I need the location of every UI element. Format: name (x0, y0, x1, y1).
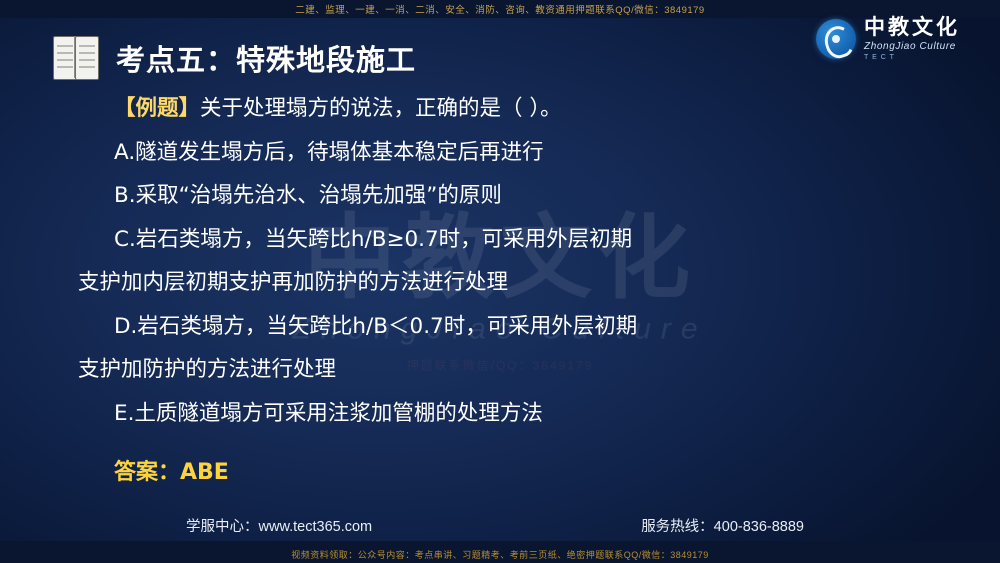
answer-row: 答案：ABE (78, 454, 940, 486)
answer-label: 答案： (114, 460, 180, 485)
option-c-cont: 支护加内层初期支护再加防护的方法进行处理 (78, 272, 940, 294)
slide-footer: 学服中心：www.tect365.com 服务热线：400-836-8889 (0, 515, 1000, 537)
option-b: B.采取“治塌先治水、治塌先加强”的原则 (78, 185, 940, 207)
option-d-cont: 支护加防护的方法进行处理 (78, 359, 940, 381)
footer-hotline: 服务热线：400-836-8889 (641, 515, 804, 536)
brand-logo: 中教文化 ZhongJiao Culture T E C T (816, 12, 984, 66)
logo-emblem-icon (816, 19, 856, 59)
footer-website: 学服中心：www.tect365.com (186, 515, 372, 536)
option-e: E.土质隧道塌方可采用注浆加管棚的处理方法 (78, 403, 940, 425)
page-title: 考点五：特殊地段施工 (116, 37, 416, 79)
question-text: 关于处理塌方的说法，正确的是（ ）。 (200, 96, 562, 121)
option-d: D.岩石类塌方，当矢跨比h/B＜0.7时，可采用外层初期 (78, 316, 940, 338)
option-a: A.隧道发生塌方后，待塌体基本稳定后再进行 (78, 142, 940, 164)
question-tag: 【例题】 (114, 96, 200, 121)
logo-name-en: ZhongJiao Culture (864, 42, 960, 53)
answer-value: ABE (180, 460, 229, 485)
option-c: C.岩石类塌方，当矢跨比h/B≥0.7时，可采用外层初期 (78, 229, 940, 251)
logo-name-cn: 中教文化 (864, 17, 960, 39)
logo-name-sub: T E C T (864, 54, 960, 61)
bottom-marquee-text: 视频资料领取：公众号内容：考点串讲、习题精考、考前三页纸、绝密押题联系QQ/微信… (0, 548, 1000, 561)
book-icon (52, 36, 100, 80)
slide-title-row: 考点五：特殊地段施工 (52, 36, 416, 80)
question-line: 【例题】关于处理塌方的说法，正确的是（ ）。 (78, 98, 940, 120)
logo-text-group: 中教文化 ZhongJiao Culture T E C T (864, 17, 960, 62)
slide-content: 【例题】关于处理塌方的说法，正确的是（ ）。 A.隧道发生塌方后，待塌体基本稳定… (78, 98, 940, 486)
book-icon-right-page (75, 36, 99, 80)
